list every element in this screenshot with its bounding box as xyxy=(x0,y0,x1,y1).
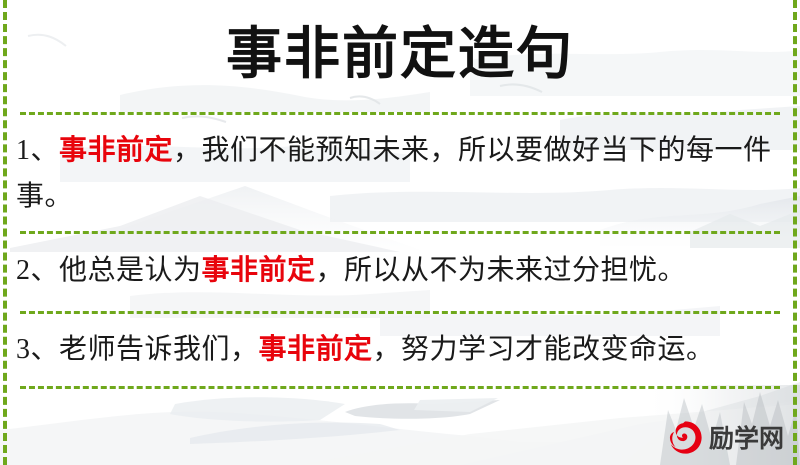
divider-rule-bottom xyxy=(20,386,780,389)
site-logo[interactable]: 励学网 xyxy=(666,417,790,459)
sentence-before-2: 他总是认为 xyxy=(59,255,202,286)
sentence-index-3: 3、 xyxy=(16,334,59,365)
sentence-index-1: 1、 xyxy=(16,135,59,166)
sentence-after-2: ，所以从不为未来过分担忧。 xyxy=(316,255,687,286)
divider-rule-top xyxy=(20,112,780,115)
sentence-item-2: 2、他总是认为事非前定，所以从不为未来过分担忧。 xyxy=(16,248,780,294)
sentence-before-3: 老师告诉我们， xyxy=(59,334,259,365)
page-title: 事非前定造句 xyxy=(0,22,800,88)
site-logo-text: 励学网 xyxy=(709,426,784,451)
sentence-item-1: 1、事非前定，我们不能预知未来，所以要做好当下的每一件事。 xyxy=(16,128,780,220)
slide-canvas: 事非前定造句 1、事非前定，我们不能预知未来，所以要做好当下的每一件事。 2、他… xyxy=(0,0,800,465)
divider-rule-2 xyxy=(20,311,780,314)
divider-rule-1 xyxy=(20,231,780,234)
sentence-keyword-1: 事非前定 xyxy=(59,135,173,166)
sentence-keyword-3: 事非前定 xyxy=(259,334,373,365)
sentence-item-3: 3、老师告诉我们，事非前定，努力学习才能改变命运。 xyxy=(16,327,780,373)
sentence-after-3: ，努力学习才能改变命运。 xyxy=(373,334,715,365)
sentence-index-2: 2、 xyxy=(16,255,59,286)
red-swirl-flame-icon xyxy=(666,419,704,457)
sentence-keyword-2: 事非前定 xyxy=(202,255,316,286)
